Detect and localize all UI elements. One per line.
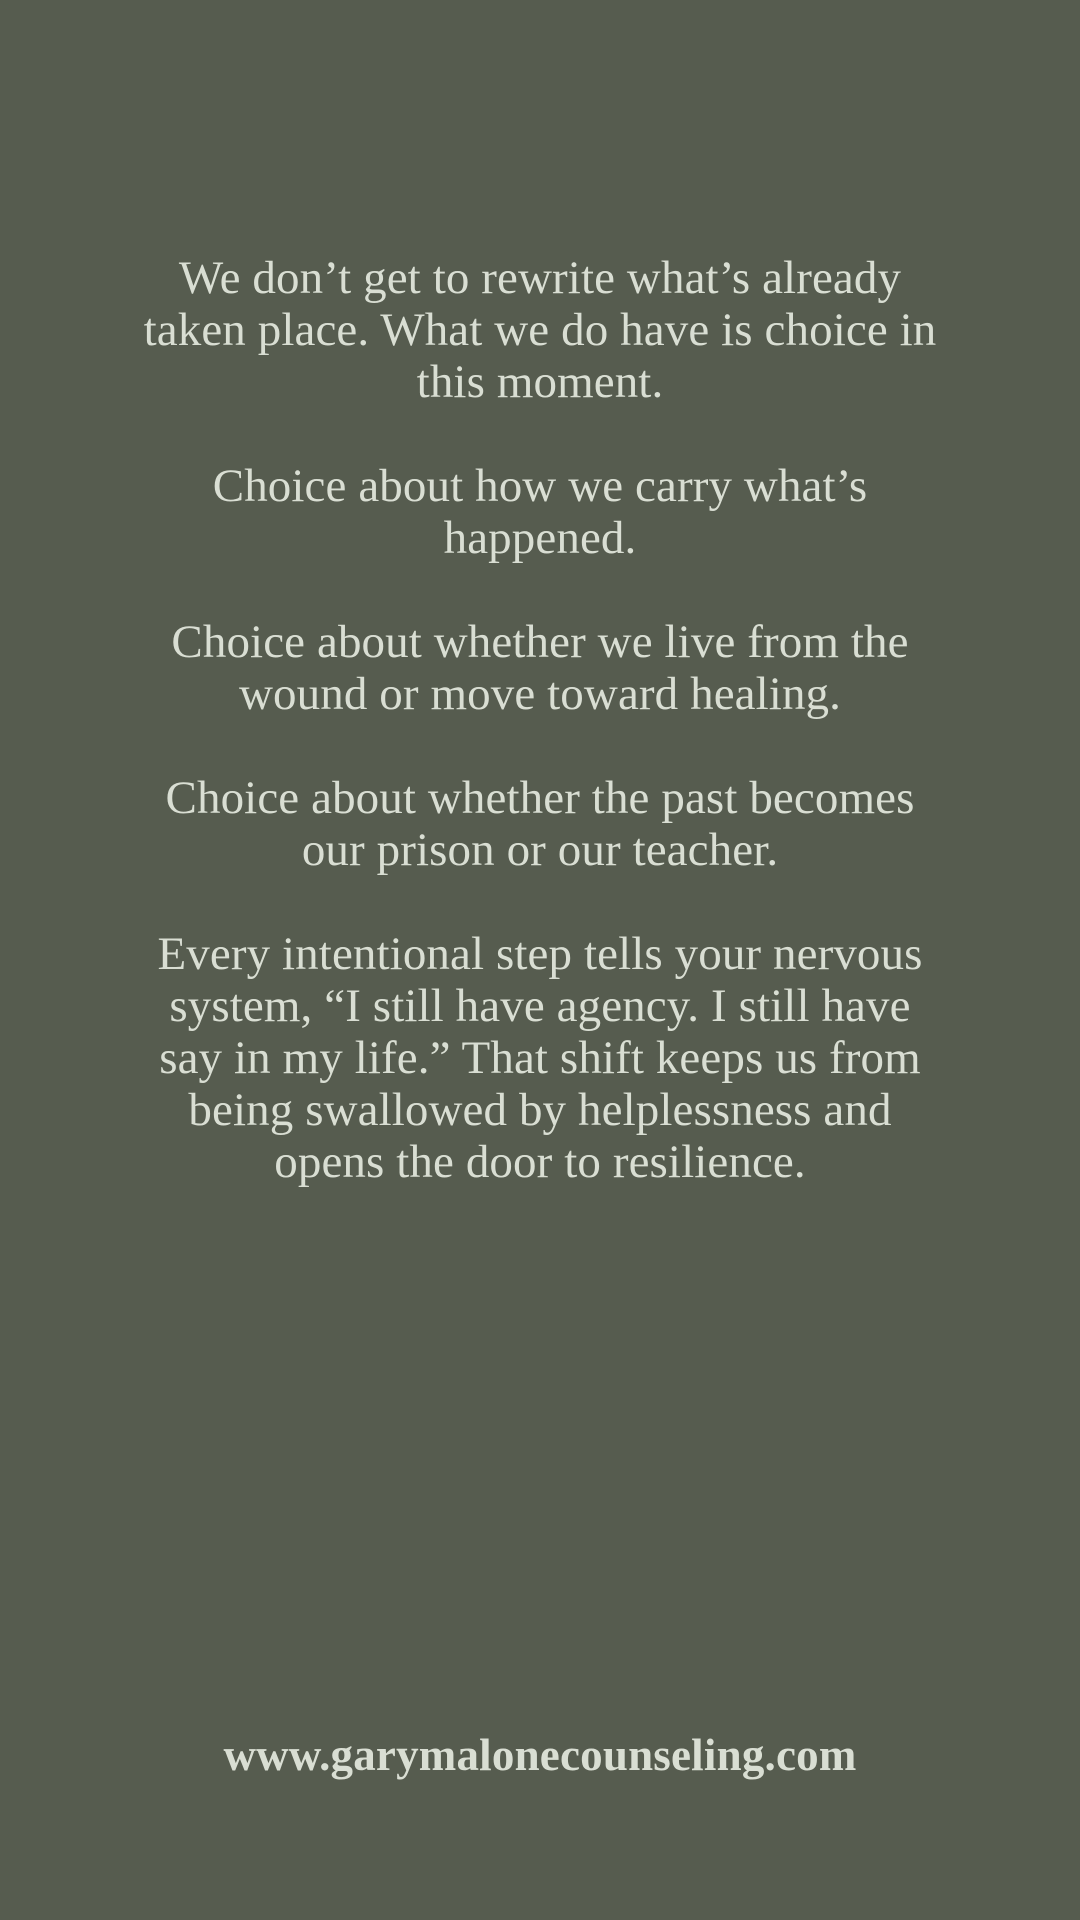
- quote-paragraph-3: Choice about whether we live from the wo…: [140, 616, 940, 720]
- quote-text-block: We don’t get to rewrite what’s already t…: [140, 252, 940, 1188]
- quote-paragraph-1: We don’t get to rewrite what’s already t…: [140, 252, 940, 408]
- quote-paragraph-5: Every intentional step tells your nervou…: [140, 928, 940, 1188]
- stanza-gap: [140, 720, 940, 772]
- stanza-gap: [140, 564, 940, 616]
- quote-paragraph-2: Choice about how we carry what’s happene…: [140, 460, 940, 564]
- quote-card: We don’t get to rewrite what’s already t…: [0, 0, 1080, 1920]
- stanza-gap: [140, 408, 940, 460]
- quote-paragraph-4: Choice about whether the past becomes ou…: [140, 772, 940, 876]
- website-url[interactable]: www.garymalonecounseling.com: [90, 1727, 990, 1783]
- stanza-gap: [140, 876, 940, 928]
